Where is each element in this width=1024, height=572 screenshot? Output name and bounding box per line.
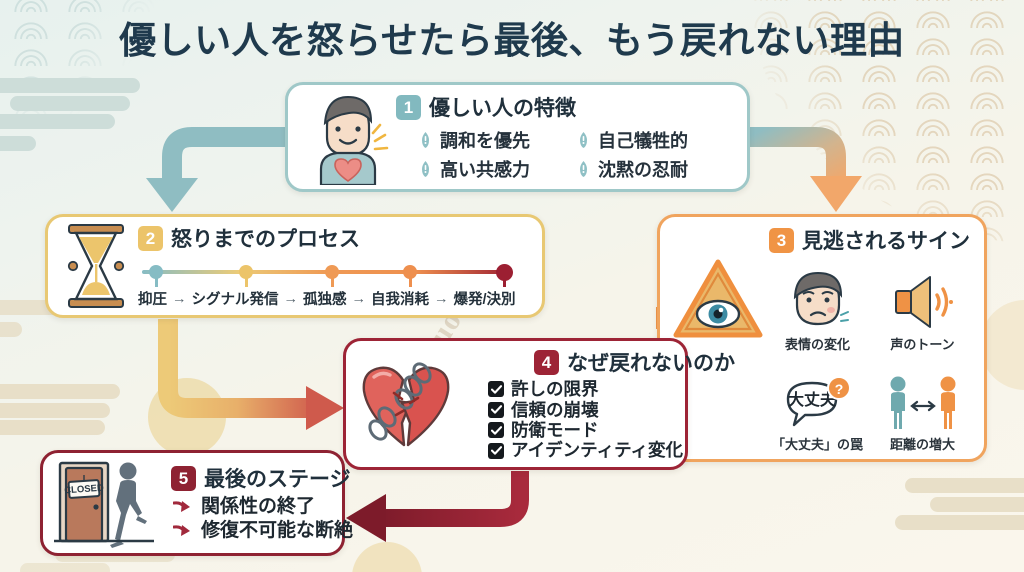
card4-reason-item: 防衛モード <box>488 420 735 440</box>
card1-feature-label: 自己犠牲的 <box>598 127 688 153</box>
card4-reason-item: 信頼の崩壊 <box>488 400 735 420</box>
card1-feature-item: 高い共感力 <box>418 156 570 182</box>
card2-header: 2 怒りまでのプロセス <box>138 223 530 253</box>
timeline-stem <box>331 277 334 287</box>
card-final-stage[interactable]: CLOSED 5 最後のステージ 関係性の終了 <box>40 450 345 556</box>
card1-feature-label: 沈黙の忍耐 <box>598 156 688 182</box>
card5-stage-list: 関係性の終了 修復不可能な断絶 <box>173 495 353 543</box>
checkbox-checked-icon <box>488 422 504 438</box>
teal-diamond-bullet-icon <box>418 161 433 177</box>
card3-sign-label: 声のトーン <box>890 334 954 353</box>
teal-diamond-bullet-icon <box>576 161 591 177</box>
card3-sign-label: 表情の変化 <box>785 334 850 353</box>
card2-step: 爆発/決別 <box>454 288 516 309</box>
card4-reason-label: 信頼の崩壊 <box>511 400 599 420</box>
card2-step: 自我消耗 <box>371 288 429 309</box>
timeline-stem <box>409 277 412 287</box>
step-arrow-icon: → <box>434 291 449 307</box>
card3-sign-item: 表情の変化 <box>766 255 869 353</box>
step-arrow-icon: → <box>172 291 187 307</box>
card1-number-badge: 1 <box>396 95 421 120</box>
infographic-canvas: 優しい人を怒らせたら最後、もう戻れない理由 <box>0 0 1024 572</box>
card-why-no-return[interactable]: 4 なぜ戻れないのか 許しの限界 信頼の崩壊 防衛モード <box>343 338 688 470</box>
card2-step: 抑圧 <box>138 288 167 309</box>
card1-feature-label: 調和を優先 <box>440 127 530 153</box>
closed-door-walking-away-icon: CLOSED <box>49 457 159 549</box>
card1-feature-item: 調和を優先 <box>418 127 570 153</box>
card1-feature-label: 高い共感力 <box>440 156 530 182</box>
card4-header: 4 なぜ戻れないのか <box>534 347 735 377</box>
card4-reason-label: アイデンティティ変化 <box>511 440 683 460</box>
card3-sign-grid: 表情の変化 声のトーン <box>766 255 974 453</box>
card4-reason-label: 防衛モード <box>511 420 599 440</box>
card3-sign-label: 「大丈夫」の罠 <box>772 434 863 453</box>
arrow-card1-to-card3 <box>749 137 862 212</box>
card3-heading: 見逃されるサイン <box>802 225 970 255</box>
teal-diamond-bullet-icon <box>576 132 591 148</box>
card-anger-process[interactable]: 2 怒りまでのプロセス 抑圧 <box>45 214 545 318</box>
card4-heading: なぜ戻れないのか <box>567 347 735 377</box>
card5-number-badge: 5 <box>171 466 196 491</box>
arrow-card4-to-card5 <box>346 471 520 542</box>
card2-step: 孤独感 <box>303 288 347 309</box>
teal-diamond-bullet-icon <box>418 132 433 148</box>
broken-heart-chain-icon <box>352 353 460 455</box>
card4-reason-item: 許しの限界 <box>488 379 735 399</box>
card5-stage-item: 関係性の終了 <box>173 495 353 519</box>
card4-reason-label: 許しの限界 <box>511 379 599 399</box>
card4-reason-list: 許しの限界 信頼の崩壊 防衛モード アイデンティティ変化 <box>488 379 735 461</box>
kind-person-with-heart-icon <box>300 89 396 185</box>
arrow-card2-to-card4 <box>168 319 344 430</box>
card3-sign-item: 声のトーン <box>871 255 974 353</box>
step-arrow-icon: → <box>352 291 367 307</box>
timeline-stem <box>245 277 248 287</box>
card3-sign-item: 距離の増大 <box>871 355 974 453</box>
card5-stage-item: 修復不可能な断絶 <box>173 519 353 543</box>
card1-feature-list: 調和を優先 自己犠牲的 高い共感力 沈黙の忍耐 <box>418 127 737 182</box>
card2-step: シグナル発信 <box>192 288 279 309</box>
card2-heading: 怒りまでのプロセス <box>171 223 360 253</box>
timeline-stem <box>503 277 506 287</box>
step-arrow-icon: → <box>284 291 299 307</box>
card5-stage-label: 関係性の終了 <box>201 495 315 519</box>
card3-sign-item: 大丈夫 ? 「大丈夫」の罠 <box>766 355 869 453</box>
card5-stage-label: 修復不可能な断絶 <box>201 519 353 543</box>
card3-header: 3 見逃されるサイン <box>670 225 974 255</box>
card4-number-badge: 4 <box>534 350 559 375</box>
curved-arrow-right-icon <box>173 498 193 516</box>
checkbox-checked-icon <box>488 443 504 459</box>
card1-feature-item: 自己犠牲的 <box>576 127 737 153</box>
card2-number-badge: 2 <box>138 226 163 251</box>
card1-header: 1 優しい人の特徴 <box>396 92 737 122</box>
card1-heading: 優しい人の特徴 <box>429 92 576 122</box>
worried-face-icon <box>784 269 852 333</box>
svg-text:?: ? <box>834 381 843 397</box>
card-kind-person-traits[interactable]: 1 優しい人の特徴 調和を優先 自己犠牲的 高い共感力 <box>285 82 750 192</box>
arrow-card1-to-card2 <box>146 137 286 212</box>
card4-reason-item: アイデンティティ変化 <box>488 440 735 460</box>
card5-header: 5 最後のステージ <box>171 463 353 493</box>
card3-sign-label: 距離の増大 <box>890 434 955 453</box>
card5-heading: 最後のステージ <box>204 463 351 493</box>
curved-arrow-right-icon <box>173 522 193 540</box>
card3-number-badge: 3 <box>769 228 794 253</box>
timeline-stem <box>155 277 158 287</box>
checkbox-checked-icon <box>488 381 504 397</box>
speech-bubble-question-icon: 大丈夫 ? <box>781 375 855 433</box>
two-people-distance-icon <box>884 375 962 433</box>
speaker-sound-icon <box>890 271 956 333</box>
card2-step-labels: 抑圧 → シグナル発信 → 孤独感 → 自我消耗 → 爆発/決別 <box>138 288 530 309</box>
card1-feature-item: 沈黙の忍耐 <box>576 156 737 182</box>
hourglass-icon <box>56 222 136 310</box>
checkbox-checked-icon <box>488 402 504 418</box>
card2-timeline <box>142 265 512 279</box>
